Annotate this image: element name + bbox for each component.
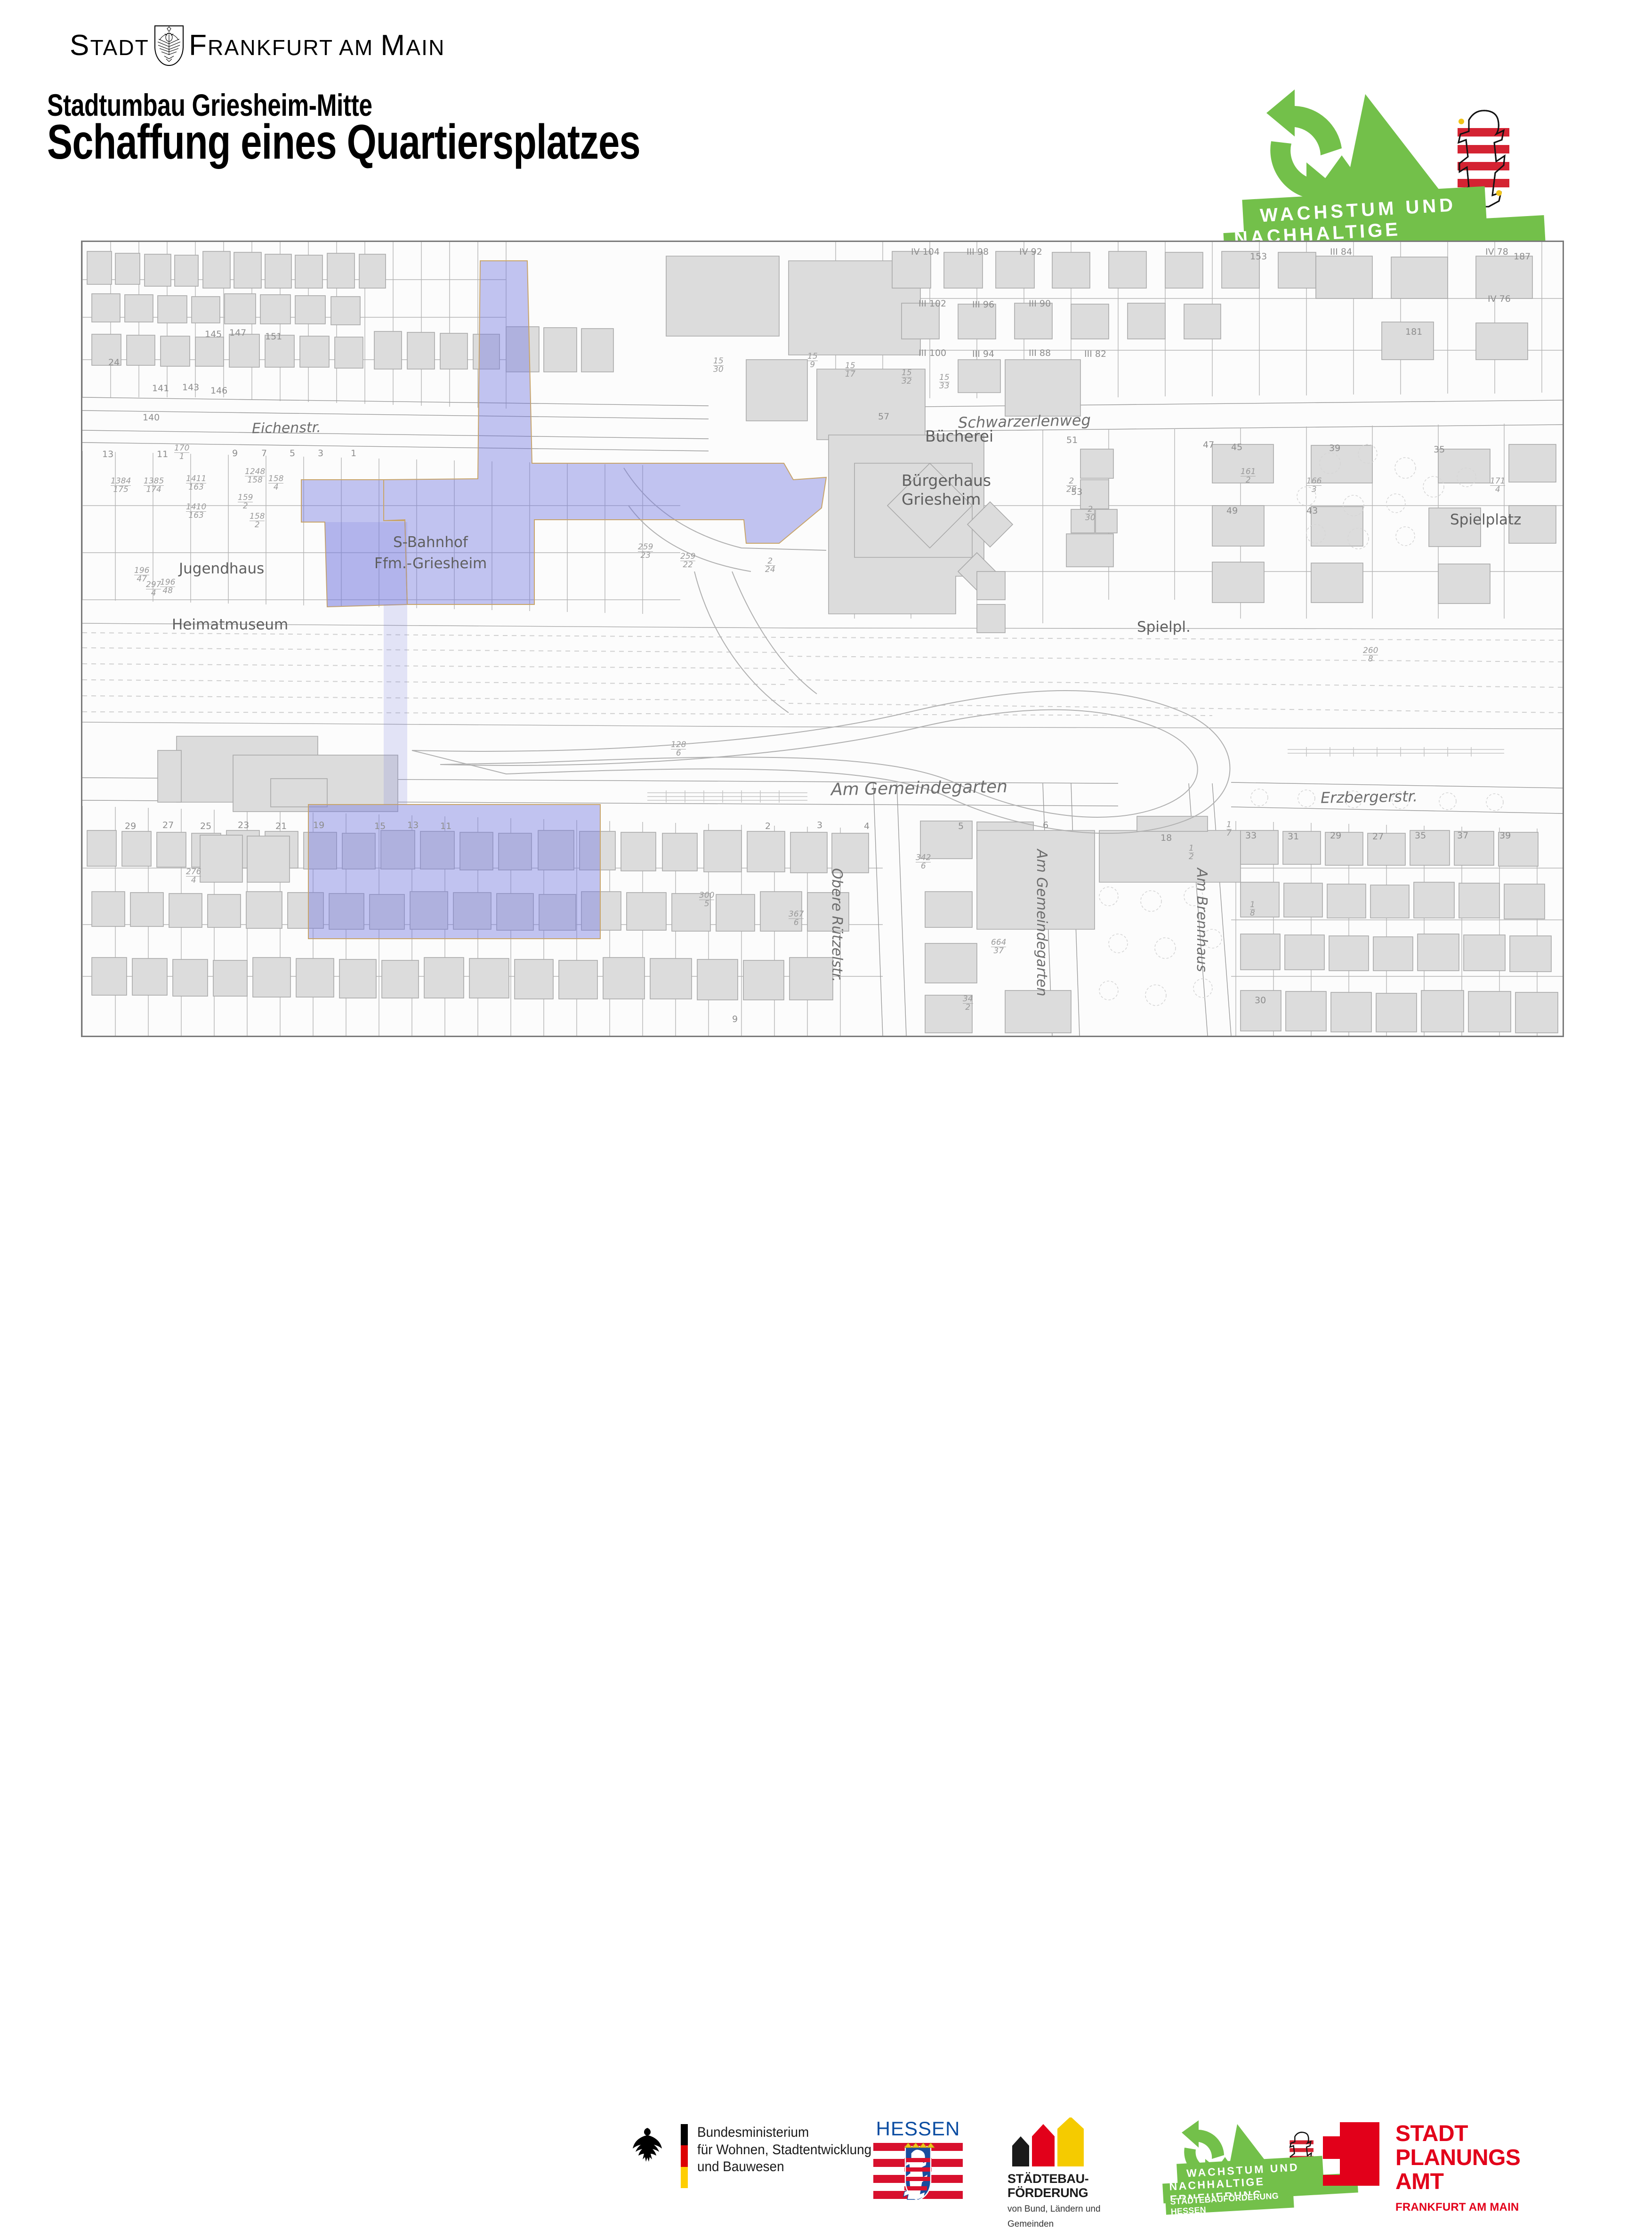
house-number: 23 (238, 820, 249, 830)
parcel-fraction: 159 (807, 353, 818, 369)
parcel-fraction: 1592 (238, 494, 253, 510)
parcel-fraction: 1530 (713, 357, 724, 374)
house-number: 35 (1415, 830, 1426, 841)
street-label-am-gemeindegarten-vertical: Am Gemeindegarten (1033, 849, 1050, 997)
parcel-fraction: 1411163 (186, 475, 206, 491)
hessen-logo: HESSEN (873, 2117, 963, 2208)
house-number: III 84 (1330, 247, 1352, 257)
house-number: 39 (1499, 830, 1511, 841)
place-label-jugendhaus: Jugendhaus (179, 560, 264, 577)
house-number: 31 (1288, 831, 1299, 842)
staedtebau-line1: STÄDTEBAU- (1007, 2172, 1116, 2186)
bundesadler-icon (626, 2124, 671, 2181)
house-number: 153 (1250, 251, 1267, 262)
street-label-am-brennhaus: Am Brennhaus (1193, 868, 1210, 972)
house-number: 3 (817, 820, 822, 830)
house-number: 145 (205, 329, 222, 339)
spa-line3: AMT (1395, 2170, 1520, 2194)
parcel-fraction: 2764 (186, 868, 201, 885)
house-number: IV 92 (1019, 247, 1042, 257)
parcel-fraction: 1533 (939, 374, 950, 390)
house-number: III 88 (1029, 348, 1051, 358)
parcel-fraction: 12 (1189, 845, 1194, 861)
house-number: 49 (1226, 506, 1238, 516)
place-label-buecherei: Bücherei (925, 427, 993, 445)
parcel-fraction: 1385174 (144, 477, 164, 494)
cadastral-map[interactable]: Eichenstr. Schwarzerlenweg Am Gemeindega… (81, 241, 1564, 1037)
house-number: 13 (407, 820, 419, 830)
house-number: IV 76 (1488, 294, 1511, 304)
parcel-fraction: 19648 (160, 579, 175, 595)
parcel-fraction: 1517 (845, 362, 855, 378)
house-number: 18 (1160, 833, 1172, 843)
place-label-spielplatz: Spielplatz (1450, 511, 1521, 528)
house-number: 5 (290, 448, 295, 459)
house-number: 7 (261, 448, 267, 459)
house-number: 146 (210, 386, 227, 396)
staedtebau-sub2: Gemeinden (1007, 2219, 1116, 2230)
house-number: III 96 (972, 299, 994, 310)
house-number: III 90 (1029, 298, 1051, 309)
parcel-fraction: 1701 (174, 444, 189, 461)
parcel-fraction: 1286 (671, 741, 686, 757)
place-label-heimatmuseum: Heimatmuseum (172, 616, 288, 633)
house-number: 11 (440, 821, 451, 831)
parcel-fraction: 1582 (250, 513, 265, 529)
stadt-frankfurt-logo: STADT FRANKFURT AM MAIN (70, 24, 445, 67)
house-number: IV 104 (911, 247, 940, 257)
house-number: 151 (265, 331, 282, 342)
parcel-fraction: 1384175 (111, 477, 131, 494)
parcel-fraction: 1612 (1241, 468, 1256, 484)
parcel-fraction: 1714 (1490, 477, 1505, 494)
street-label-eichenstr: Eichenstr. (252, 419, 321, 437)
house-number: 3 (318, 448, 323, 459)
staedtebau-line2: FÖRDERUNG (1007, 2186, 1116, 2200)
parcel-fraction: 2974 (146, 581, 161, 597)
parcel-fraction: 229 (1066, 477, 1077, 494)
house-number: 19 (313, 820, 324, 830)
frankfurt-eagle-crest-icon (153, 24, 185, 66)
footer-logo-row: Bundesministerium für Wohnen, Stadtentwi… (0, 1055, 1652, 1167)
spa-subtitle: FRANKFURT AM MAIN (1395, 2201, 1520, 2214)
house-number: 147 (229, 328, 246, 338)
house-number: 33 (1245, 830, 1257, 841)
parcel-fraction: 25922 (680, 553, 695, 569)
parcel-fraction: 2608 (1363, 647, 1378, 663)
staedtebaufoerderung-logo: STÄDTEBAU- FÖRDERUNG von Bund, Ländern u… (1007, 2117, 1116, 2230)
parcel-fraction: 1532 (902, 369, 912, 386)
page-header: STADT FRANKFURT AM MAIN Stadtumbau Gries… (0, 0, 1652, 240)
house-number: 25 (200, 821, 211, 831)
house-number: 57 (878, 411, 889, 422)
parcel-fraction: 224 (765, 557, 775, 574)
staedtebau-sub1: von Bund, Ländern und (1007, 2204, 1116, 2215)
house-number: 27 (162, 820, 174, 830)
house-number: 43 (1306, 506, 1318, 516)
page-title: Schaffung eines Quartiersplatzes (47, 114, 640, 170)
street-label-erzbergerstr: Erzbergerstr. (1321, 787, 1418, 807)
city-logo-part2: FRANKFURT AM MAIN (189, 29, 445, 62)
german-flag-bar (681, 2124, 688, 2188)
house-number: III 98 (967, 247, 989, 257)
house-number: III 94 (972, 349, 994, 359)
house-number: 45 (1231, 442, 1242, 452)
place-label-buergerhaus: Bürgerhaus (902, 471, 991, 490)
bundesministerium-logo: Bundesministerium für Wohnen, Stadtentwi… (626, 2124, 885, 2188)
parcel-fraction: 1663 (1306, 477, 1322, 494)
house-number: 140 (143, 412, 160, 423)
three-houses-icon (1007, 2117, 1097, 2169)
house-number: 9 (232, 448, 238, 459)
parcel-fraction: 17 (1226, 821, 1232, 837)
house-number: 13 (102, 449, 113, 459)
parcel-fraction: 342 (963, 995, 973, 1012)
house-number: III 100 (919, 348, 946, 358)
parcel-fraction: 3426 (916, 854, 931, 870)
house-number: 37 (1457, 830, 1468, 841)
house-number: 27 (1372, 831, 1384, 842)
house-number: 15 (374, 821, 386, 831)
spa-line1: STADT (1395, 2122, 1520, 2146)
parcel-fraction: 66437 (991, 939, 1006, 955)
house-number: 2 (765, 821, 771, 831)
parcel-fraction: 230 (1085, 506, 1096, 522)
place-label-s-bahnhof: S-Bahnhof (393, 534, 468, 551)
parcel-fraction: 1584 (268, 475, 283, 491)
house-number: 9 (732, 1014, 738, 1024)
place-label-griesheim: Griesheim (902, 490, 981, 508)
parcel-fraction: 3676 (789, 910, 804, 927)
house-number: 29 (1330, 830, 1341, 841)
house-number: 29 (125, 821, 136, 831)
parcel-fraction: 25923 (638, 543, 653, 560)
bmwsb-text: Bundesministerium für Wohnen, Stadtentwi… (697, 2124, 871, 2176)
stadtplanungsamt-text: STADT PLANUNGS AMT FRANKFURT AM MAIN (1395, 2122, 1520, 2214)
parcel-fraction: 1248158 (245, 468, 265, 484)
house-number: 187 (1514, 251, 1531, 262)
spa-line2: PLANUNGS (1395, 2146, 1520, 2170)
house-number: III 82 (1084, 349, 1106, 359)
street-label-obere-ruetzelstr: Obere Rützelstr. (829, 868, 845, 982)
house-number: 181 (1405, 327, 1422, 337)
parcel-fraction: 3005 (699, 892, 714, 908)
house-number: 51 (1066, 435, 1078, 445)
house-number: 30 (1255, 995, 1266, 1006)
map-canvas (82, 242, 1563, 1036)
house-number: 1 (351, 448, 356, 459)
house-number: 141 (152, 383, 169, 394)
house-number: 143 (182, 382, 199, 393)
house-number: 24 (108, 357, 120, 368)
hessen-coat-of-arms-icon (873, 2140, 963, 2206)
stadtplanungsamt-mark-icon (1323, 2122, 1379, 2186)
house-number: 35 (1434, 444, 1445, 455)
house-number: 47 (1203, 440, 1214, 450)
house-number: 4 (864, 821, 870, 831)
house-number: 21 (275, 821, 287, 831)
house-number: 5 (958, 821, 964, 831)
house-number: IV 78 (1485, 247, 1508, 257)
house-number: 6 (1043, 820, 1048, 830)
house-number: 39 (1329, 443, 1340, 453)
place-label-spielpl: Spielpl. (1137, 619, 1191, 636)
stadtplanungsamt-logo: STADT PLANUNGS AMT FRANKFURT AM MAIN (1323, 2122, 1520, 2214)
hessen-wordmark: HESSEN (873, 2117, 963, 2140)
city-logo-part1: STADT (70, 29, 149, 62)
street-label-am-gemeindegarten: Am Gemeindegarten (831, 777, 1008, 800)
place-label-ffm-griesheim: Ffm.-Griesheim (374, 555, 487, 572)
parcel-fraction: 1410163 (186, 503, 206, 520)
house-number: III 102 (919, 298, 946, 309)
house-number: 11 (157, 449, 168, 459)
parcel-fraction: 18 (1250, 901, 1255, 918)
